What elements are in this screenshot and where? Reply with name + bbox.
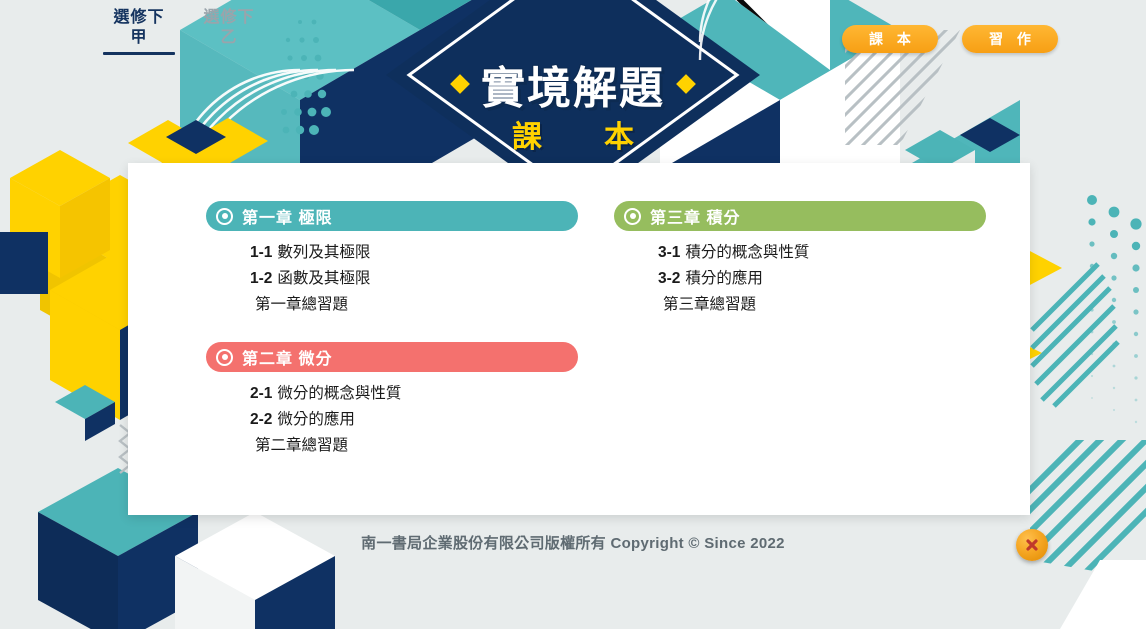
target-icon xyxy=(216,349,233,366)
chapter-1-title: 第一章 極限 xyxy=(242,204,332,228)
page-title: 實境解題 xyxy=(481,52,665,116)
mode-buttons: 課 本 習 作 xyxy=(842,25,1058,53)
tab-yi-line2: 乙 xyxy=(190,28,268,48)
chapter-2-header[interactable]: 第二章 微分 xyxy=(206,342,578,372)
chapter-1-item-2[interactable]: 1-2函數及其極限 xyxy=(250,266,578,292)
chapter-columns: 第一章 極限 1-1數列及其極限 1-2函數及其極限 第一章總習題 xyxy=(128,163,1030,469)
chapter-3-item-1-num: 3-1 xyxy=(658,244,680,261)
chapter-2-item-2-text: 微分的應用 xyxy=(277,411,355,428)
workbook-button[interactable]: 習 作 xyxy=(962,25,1058,53)
chapter-card: 第一章 極限 1-1數列及其極限 1-2函數及其極限 第一章總習題 xyxy=(128,163,1030,515)
tab-jia-line1: 選修下 xyxy=(100,8,178,28)
chapter-1-header[interactable]: 第一章 極限 xyxy=(206,201,578,231)
chapter-2-items: 2-1微分的概念與性質 2-2微分的應用 第二章總習題 xyxy=(206,372,578,459)
chapter-3-item-2-num: 3-2 xyxy=(658,270,680,287)
chapter-3: 第三章 積分 3-1積分的概念與性質 3-2積分的應用 第三章總習題 xyxy=(614,201,986,318)
chapter-1-item-2-text: 函數及其極限 xyxy=(277,270,370,287)
chapter-column-left: 第一章 極限 1-1數列及其極限 1-2函數及其極限 第一章總習題 xyxy=(206,201,578,469)
tab-jia-line2: 甲 xyxy=(100,28,178,48)
chapter-2-item-3[interactable]: 第二章總習題 xyxy=(250,433,578,459)
chapter-2-title: 第二章 微分 xyxy=(242,345,332,369)
banner-title-row: 實境解題 xyxy=(453,52,693,116)
chapter-2-item-3-text: 第二章總習題 xyxy=(255,437,348,454)
tab-xuanxiu-xia-yi[interactable]: 選修下 乙 xyxy=(190,8,268,52)
chapter-column-right: 第三章 積分 3-1積分的概念與性質 3-2積分的應用 第三章總習題 xyxy=(614,201,986,469)
chapter-2-item-2-num: 2-2 xyxy=(250,411,272,428)
chapter-3-header[interactable]: 第三章 積分 xyxy=(614,201,986,231)
textbook-button[interactable]: 課 本 xyxy=(842,25,938,53)
chapter-1-item-1-text: 數列及其極限 xyxy=(277,244,370,261)
chapter-3-item-1[interactable]: 3-1積分的概念與性質 xyxy=(658,240,986,266)
app-root: 選修下 甲 選修下 乙 課 本 習 作 實境解題 課 本 xyxy=(0,0,1146,629)
chapter-3-item-2-text: 積分的應用 xyxy=(685,270,763,287)
diamond-left-icon xyxy=(450,74,470,94)
chapter-2: 第二章 微分 2-1微分的概念與性質 2-2微分的應用 第二章總習題 xyxy=(206,342,578,459)
tab-active-underline xyxy=(103,52,175,55)
chapter-2-item-1-text: 微分的概念與性質 xyxy=(277,385,401,402)
chapter-1-item-3-text: 第一章總習題 xyxy=(255,296,348,313)
close-icon xyxy=(1024,537,1040,553)
tab-xuanxiu-xia-jia[interactable]: 選修下 甲 xyxy=(100,8,178,59)
chapter-3-item-3[interactable]: 第三章總習題 xyxy=(658,292,986,318)
chapter-3-item-3-text: 第三章總習題 xyxy=(663,296,756,313)
chapter-3-title: 第三章 積分 xyxy=(650,204,740,228)
chapter-3-items: 3-1積分的概念與性質 3-2積分的應用 第三章總習題 xyxy=(614,231,986,318)
chapter-3-item-1-text: 積分的概念與性質 xyxy=(685,244,809,261)
chapter-1: 第一章 極限 1-1數列及其極限 1-2函數及其極限 第一章總習題 xyxy=(206,201,578,318)
target-icon xyxy=(216,208,233,225)
course-tabs: 選修下 甲 選修下 乙 xyxy=(100,8,268,59)
tab-yi-line1: 選修下 xyxy=(190,8,268,28)
target-icon xyxy=(624,208,641,225)
chapter-3-item-2[interactable]: 3-2積分的應用 xyxy=(658,266,986,292)
chapter-2-item-1[interactable]: 2-1微分的概念與性質 xyxy=(250,381,578,407)
chapter-1-item-1[interactable]: 1-1數列及其極限 xyxy=(250,240,578,266)
chapter-1-item-1-num: 1-1 xyxy=(250,244,272,261)
copyright-text: 南一書局企業股份有限公司版權所有 Copyright © Since 2022 xyxy=(0,532,1146,553)
chapter-1-item-3[interactable]: 第一章總習題 xyxy=(250,292,578,318)
chapter-2-item-2[interactable]: 2-2微分的應用 xyxy=(250,407,578,433)
close-button[interactable] xyxy=(1016,529,1048,561)
chapter-1-item-2-num: 1-2 xyxy=(250,270,272,287)
chapter-1-items: 1-1數列及其極限 1-2函數及其極限 第一章總習題 xyxy=(206,231,578,318)
page-subtitle: 課 本 xyxy=(496,112,650,156)
diamond-right-icon xyxy=(676,74,696,94)
chapter-2-item-1-num: 2-1 xyxy=(250,385,272,402)
